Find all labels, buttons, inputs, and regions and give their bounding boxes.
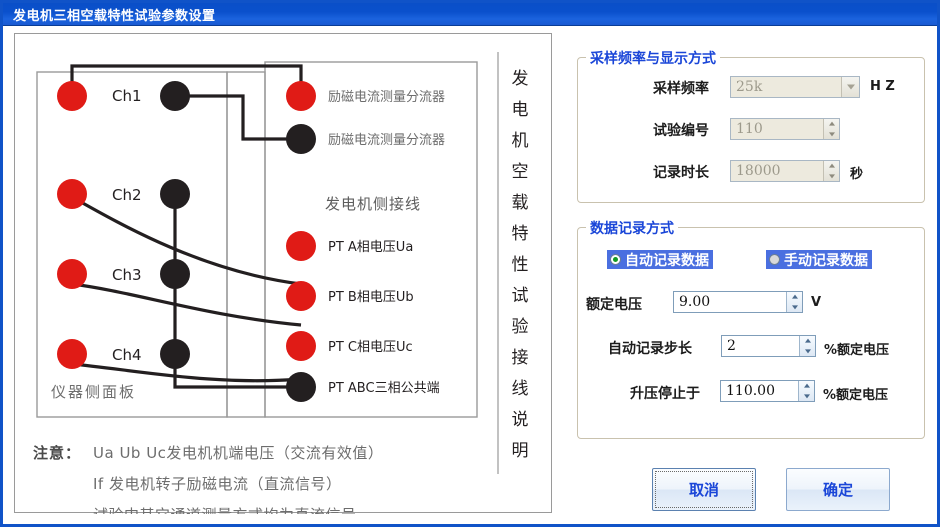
rated-voltage-spinner[interactable]: 9.00 xyxy=(673,291,803,313)
sampling-group: 采样频率与显示方式 采样频率 25k H Z 试验编号 110 记录时长 180… xyxy=(577,57,925,203)
note-line-3: 试验中其它通道测量方式均为直流信号 xyxy=(93,506,357,514)
channel-label-ch3: Ch3 xyxy=(112,266,142,284)
record-duration-label: 记录时长 xyxy=(653,162,709,182)
terminal-dot-shunt-red xyxy=(286,81,316,111)
terminal-dot-pt-a xyxy=(286,231,316,261)
instrument-panel-caption: 仪器侧面板 xyxy=(51,383,136,401)
cancel-button[interactable]: 取消 xyxy=(652,468,756,511)
terminal-dot-pt-b xyxy=(286,281,316,311)
terminal-label-shunt-red: 励磁电流测量分流器 xyxy=(328,90,445,105)
wiring-diagram-panel: Ch1 Ch2 Ch3 Ch4 仪器侧面板 励磁电流测量分流器 励磁电流测量分流… xyxy=(14,33,552,513)
radio-manual-record[interactable]: 手动记录数据 xyxy=(766,250,872,269)
terminal-dot-pt-c xyxy=(286,331,316,361)
record-duration-spinner[interactable]: 18000 xyxy=(730,160,840,182)
dialog-window: 发电机三相空载特性试验参数设置 xyxy=(0,0,940,527)
spinner-arrows-icon[interactable] xyxy=(798,381,814,401)
title-bar: 发电机三相空载特性试验参数设置 xyxy=(3,3,937,26)
wiring-diagram-svg: Ch1 Ch2 Ch3 Ch4 仪器侧面板 励磁电流测量分流器 励磁电流测量分流… xyxy=(15,34,553,514)
terminal-dot-red-ch4 xyxy=(57,339,87,369)
terminal-dot-black-ch1 xyxy=(160,81,190,111)
radio-unselected-icon xyxy=(769,254,780,265)
terminal-label-shunt-black: 励磁电流测量分流器 xyxy=(328,133,445,148)
test-number-label: 试验编号 xyxy=(653,120,709,140)
sampling-rate-unit: H Z xyxy=(870,79,895,94)
test-number-value: 110 xyxy=(731,121,823,137)
terminal-dot-shunt-black xyxy=(286,124,316,154)
note-line-2: If 发电机转子励磁电流（直流信号） xyxy=(93,475,341,493)
radio-auto-record-label: 自动记录数据 xyxy=(625,250,709,270)
terminal-label-pt-common: PT ABC三相公共端 xyxy=(328,381,440,396)
record-group: 数据记录方式 自动记录数据 手动记录数据 额定电压 9.00 V 自动记录步长 … xyxy=(577,227,925,439)
chevron-down-icon[interactable] xyxy=(841,77,859,97)
middle-outline xyxy=(227,72,265,417)
channel-label-ch1: Ch1 xyxy=(112,87,142,105)
diagram-vertical-title: 发电机空载特性试验接线说明 xyxy=(512,69,529,461)
radio-auto-record[interactable]: 自动记录数据 xyxy=(607,250,713,269)
terminal-dot-black-ch3 xyxy=(160,259,190,289)
rated-voltage-label: 额定电压 xyxy=(586,294,642,314)
terminal-dot-red-ch2 xyxy=(57,179,87,209)
note-line-1: Ua Ub Uc发电机机端电压（交流有效值） xyxy=(93,444,383,462)
rated-voltage-unit: V xyxy=(811,295,821,310)
ok-button-label: 确定 xyxy=(823,479,853,500)
rated-voltage-value: 9.00 xyxy=(674,294,786,310)
spinner-arrows-icon[interactable] xyxy=(823,161,839,181)
terminal-dot-black-ch2 xyxy=(160,179,190,209)
terminal-dot-black-ch4 xyxy=(160,339,190,369)
stop-voltage-label: 升压停止于 xyxy=(630,383,700,403)
sampling-group-title: 采样频率与显示方式 xyxy=(586,48,720,68)
wire-group xyxy=(72,66,301,387)
window-title: 发电机三相空载特性试验参数设置 xyxy=(13,5,216,24)
terminal-dot-pt-common xyxy=(286,372,316,402)
radio-manual-record-label: 手动记录数据 xyxy=(784,250,868,270)
stop-voltage-value: 110.00 xyxy=(721,383,798,399)
record-duration-unit: 秒 xyxy=(850,163,863,182)
spinner-arrows-icon[interactable] xyxy=(823,119,839,139)
focus-outline xyxy=(655,471,753,508)
terminal-label-pt-c: PT C相电压Uc xyxy=(328,340,413,355)
terminal-dot-red-ch1 xyxy=(57,81,87,111)
generator-side-caption: 发电机侧接线 xyxy=(325,195,421,213)
sampling-rate-label: 采样频率 xyxy=(653,78,709,98)
stop-voltage-spinner[interactable]: 110.00 xyxy=(720,380,815,402)
spinner-arrows-icon[interactable] xyxy=(799,336,815,356)
instrument-red-terminals xyxy=(57,81,87,369)
sampling-rate-combo[interactable]: 25k xyxy=(730,76,860,98)
record-group-title: 数据记录方式 xyxy=(586,218,678,238)
auto-step-spinner[interactable]: 2 xyxy=(721,335,816,357)
spinner-arrows-icon[interactable] xyxy=(786,292,802,312)
auto-step-unit: %额定电压 xyxy=(824,339,889,358)
auto-step-label: 自动记录步长 xyxy=(608,338,692,358)
channel-label-ch4: Ch4 xyxy=(112,346,142,364)
stop-voltage-unit: %额定电压 xyxy=(823,384,888,403)
ok-button[interactable]: 确定 xyxy=(786,468,890,511)
test-number-spinner[interactable]: 110 xyxy=(730,118,840,140)
terminal-dot-red-ch3 xyxy=(57,259,87,289)
radio-selected-icon xyxy=(610,254,621,265)
sampling-rate-value: 25k xyxy=(731,79,841,95)
terminal-label-pt-a: PT A相电压Ua xyxy=(328,240,413,255)
channel-label-ch2: Ch2 xyxy=(112,186,142,204)
notes-title: 注意： xyxy=(33,444,81,462)
terminal-label-pt-b: PT B相电压Ub xyxy=(328,290,414,305)
record-duration-value: 18000 xyxy=(731,163,823,179)
auto-step-value: 2 xyxy=(722,338,799,354)
